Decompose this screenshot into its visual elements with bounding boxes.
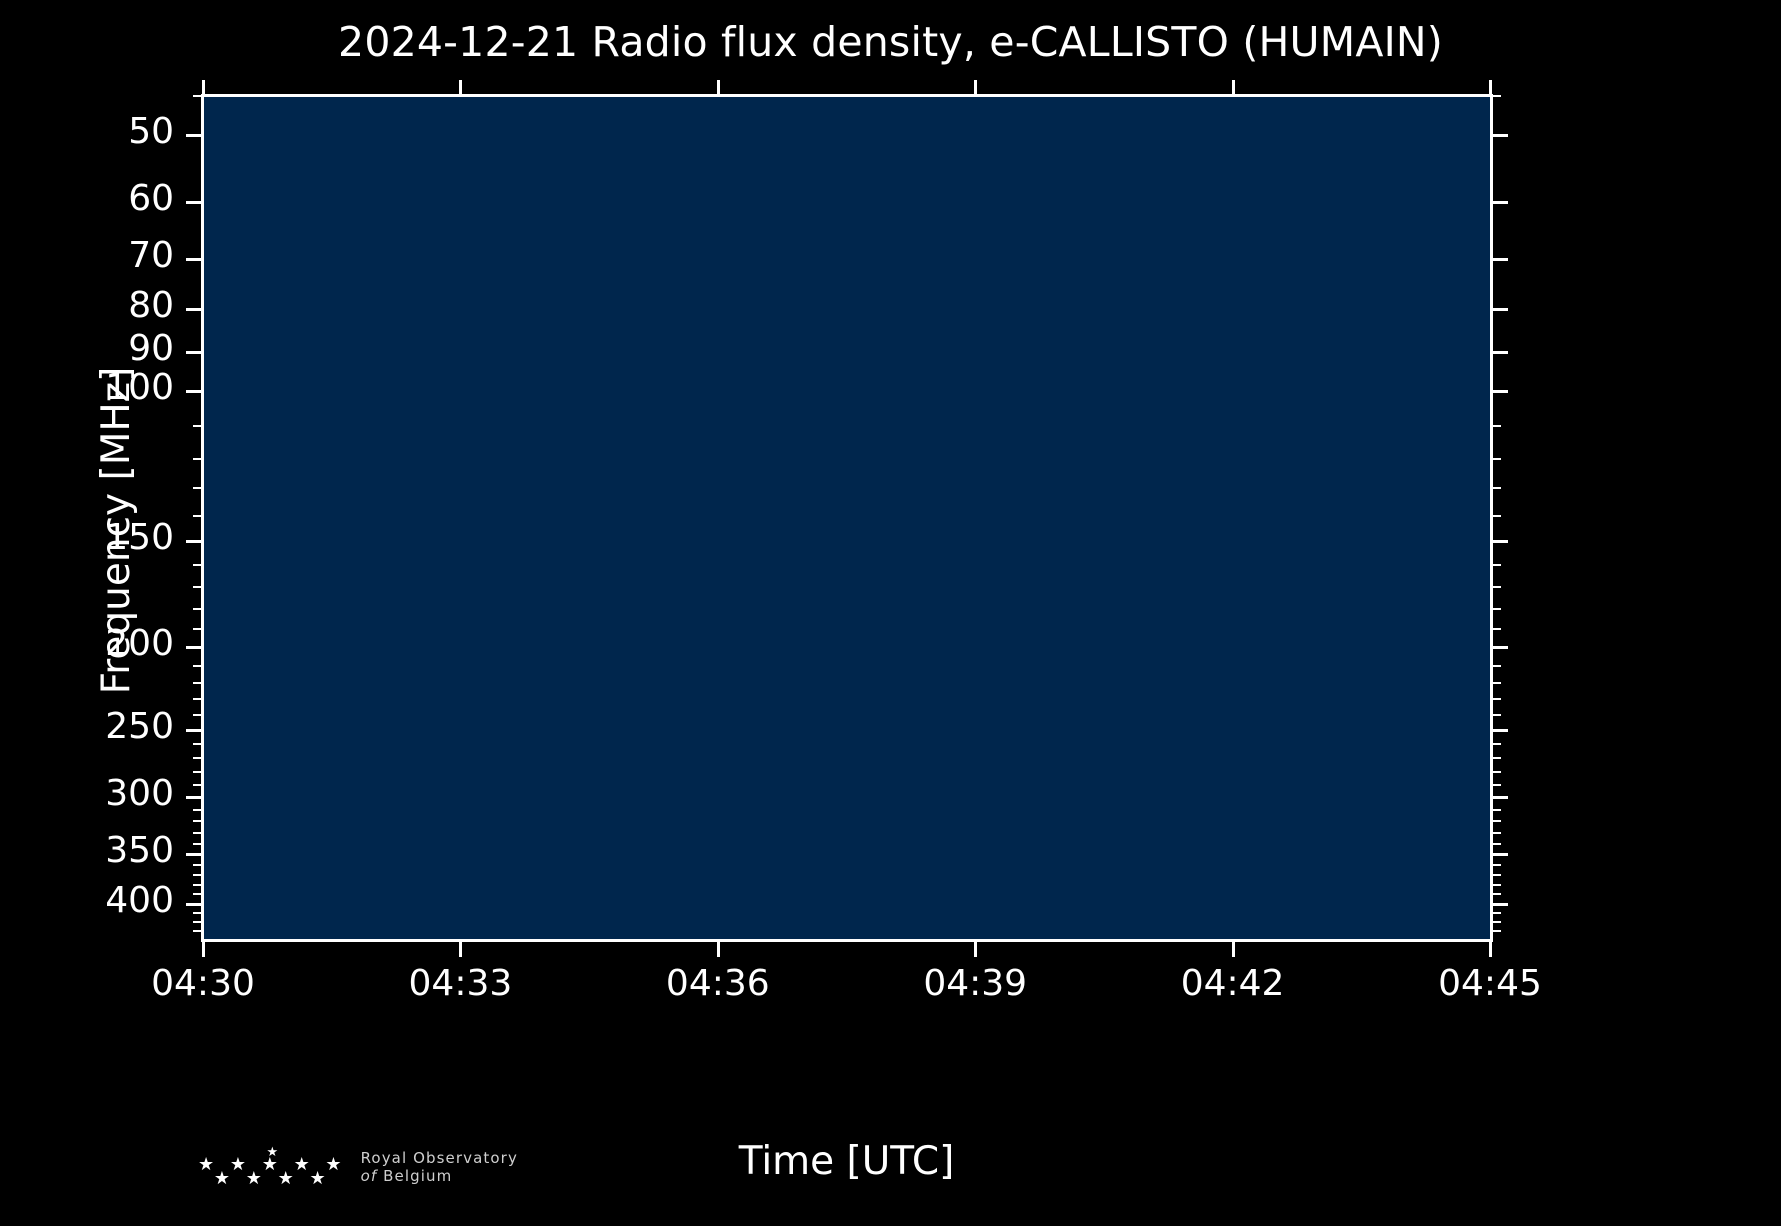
x-tick-04:39 (974, 941, 977, 957)
x-tick-label-04:39: 04:39 (923, 963, 1027, 1004)
x-tick-top-04:36 (717, 80, 720, 96)
y-minor-tick-340 (193, 843, 202, 845)
y-tick-right-350 (1492, 853, 1508, 856)
logo-line-1: Royal Observatory (361, 1149, 518, 1167)
y-minor-tick-120 (193, 458, 202, 460)
y-minor-tick-right-360 (1492, 864, 1501, 866)
y-minor-tick-280 (193, 771, 202, 773)
y-tick-right-90 (1492, 351, 1508, 354)
y-minor-tick-right-310 (1492, 809, 1501, 811)
y-tick-90 (186, 351, 202, 354)
y-minor-tick-360 (193, 864, 202, 866)
x-tick-top-04:33 (459, 80, 462, 96)
y-minor-tick-right-220 (1492, 682, 1501, 684)
figure-canvas: 2024-12-21 Radio flux density, e-CALLIST… (0, 0, 1781, 1226)
y-tick-right-200 (1492, 646, 1508, 649)
spectrogram-image (203, 96, 1490, 939)
y-minor-tick-right-330 (1492, 832, 1501, 834)
y-tick-150 (186, 540, 202, 543)
royal-observatory-logo: ★ ★ ★ ★ ★ ★ ★ ★ ★ ★ Royal Observatory of… (198, 1148, 518, 1186)
x-tick-04:42 (1232, 941, 1235, 957)
y-minor-tick-330 (193, 832, 202, 834)
y-minor-tick-right-170 (1492, 586, 1501, 588)
y-minor-tick-right-160 (1492, 564, 1501, 566)
y-minor-tick-180 (193, 608, 202, 610)
y-minor-tick-320 (193, 820, 202, 822)
x-tick-top-04:42 (1232, 80, 1235, 96)
y-minor-tick-420 (193, 921, 202, 923)
y-minor-tick-45 (193, 95, 202, 97)
y-minor-tick-240 (193, 714, 202, 716)
y-minor-tick-130 (193, 487, 202, 489)
y-minor-tick-right-130 (1492, 487, 1501, 489)
y-minor-tick-right-140 (1492, 515, 1501, 517)
logo-text: Royal Observatory of Belgium (361, 1149, 518, 1186)
y-tick-right-100 (1492, 390, 1508, 393)
y-minor-tick-right-370 (1492, 874, 1501, 876)
axis-spine-top (201, 94, 1493, 97)
y-minor-tick-310 (193, 809, 202, 811)
y-tick-100 (186, 390, 202, 393)
logo-stars-icon: ★ ★ ★ ★ ★ ★ ★ ★ ★ ★ (198, 1148, 347, 1186)
x-tick-top-04:30 (202, 80, 205, 96)
x-tick-label-04:42: 04:42 (1181, 963, 1285, 1004)
y-minor-tick-390 (193, 893, 202, 895)
logo-line-2-rest: Belgium (383, 1167, 452, 1185)
y-minor-tick-right-320 (1492, 820, 1501, 822)
y-minor-tick-right-390 (1492, 893, 1501, 895)
logo-star-row-3: ★ ★ ★ ★ (214, 1172, 331, 1186)
y-tick-right-50 (1492, 134, 1508, 137)
x-tick-04:45 (1489, 941, 1492, 957)
y-minor-tick-260 (193, 743, 202, 745)
y-tick-60 (186, 201, 202, 204)
y-minor-tick-430 (193, 930, 202, 932)
y-minor-tick-right-260 (1492, 743, 1501, 745)
y-minor-tick-380 (193, 884, 202, 886)
y-axis-title: Frequency [MHz] (94, 109, 139, 952)
x-tick-label-04:30: 04:30 (151, 963, 255, 1004)
y-tick-right-80 (1492, 308, 1508, 311)
y-tick-right-70 (1492, 258, 1508, 261)
y-minor-tick-290 (193, 784, 202, 786)
spectrogram-plot[interactable] (203, 96, 1490, 939)
y-minor-tick-right-270 (1492, 757, 1501, 759)
y-minor-tick-210 (193, 665, 202, 667)
y-tick-70 (186, 258, 202, 261)
y-tick-right-300 (1492, 796, 1508, 799)
y-tick-200 (186, 646, 202, 649)
y-minor-tick-right-340 (1492, 843, 1501, 845)
y-minor-tick-right-230 (1492, 698, 1501, 700)
axis-spine-bottom (201, 939, 1493, 942)
y-minor-tick-right-380 (1492, 884, 1501, 886)
y-minor-tick-160 (193, 564, 202, 566)
axis-spine-left (201, 96, 204, 942)
x-tick-label-04:33: 04:33 (409, 963, 513, 1004)
y-minor-tick-right-120 (1492, 458, 1501, 460)
y-minor-tick-right-290 (1492, 784, 1501, 786)
y-minor-tick-right-45 (1492, 95, 1501, 97)
y-minor-tick-110 (193, 425, 202, 427)
page-title: 2024-12-21 Radio flux density, e-CALLIST… (0, 18, 1781, 66)
y-minor-tick-right-190 (1492, 628, 1501, 630)
x-tick-label-04:45: 04:45 (1438, 963, 1542, 1004)
y-minor-tick-170 (193, 586, 202, 588)
y-minor-tick-right-210 (1492, 665, 1501, 667)
y-tick-250 (186, 729, 202, 732)
y-minor-tick-right-430 (1492, 930, 1501, 932)
x-tick-top-04:39 (974, 80, 977, 96)
logo-line-2: of Belgium (361, 1167, 518, 1185)
y-tick-300 (186, 796, 202, 799)
y-minor-tick-right-180 (1492, 608, 1501, 610)
y-minor-tick-190 (193, 628, 202, 630)
y-tick-400 (186, 903, 202, 906)
x-tick-top-04:45 (1489, 80, 1492, 96)
y-minor-tick-right-110 (1492, 425, 1501, 427)
y-tick-80 (186, 308, 202, 311)
y-minor-tick-270 (193, 757, 202, 759)
y-tick-right-150 (1492, 540, 1508, 543)
y-minor-tick-370 (193, 874, 202, 876)
y-tick-50 (186, 134, 202, 137)
y-tick-right-400 (1492, 903, 1508, 906)
y-tick-right-250 (1492, 729, 1508, 732)
y-minor-tick-right-280 (1492, 771, 1501, 773)
y-tick-350 (186, 853, 202, 856)
y-minor-tick-right-420 (1492, 921, 1501, 923)
logo-line-2-of: of (361, 1167, 378, 1185)
x-tick-label-04:36: 04:36 (666, 963, 770, 1004)
axis-spine-right (1490, 96, 1493, 942)
y-minor-tick-230 (193, 698, 202, 700)
y-minor-tick-220 (193, 682, 202, 684)
x-tick-04:33 (459, 941, 462, 957)
x-tick-04:30 (202, 941, 205, 957)
y-minor-tick-right-240 (1492, 714, 1501, 716)
y-minor-tick-right-410 (1492, 912, 1501, 914)
x-tick-04:36 (717, 941, 720, 957)
y-tick-right-60 (1492, 201, 1508, 204)
y-minor-tick-410 (193, 912, 202, 914)
y-minor-tick-140 (193, 515, 202, 517)
